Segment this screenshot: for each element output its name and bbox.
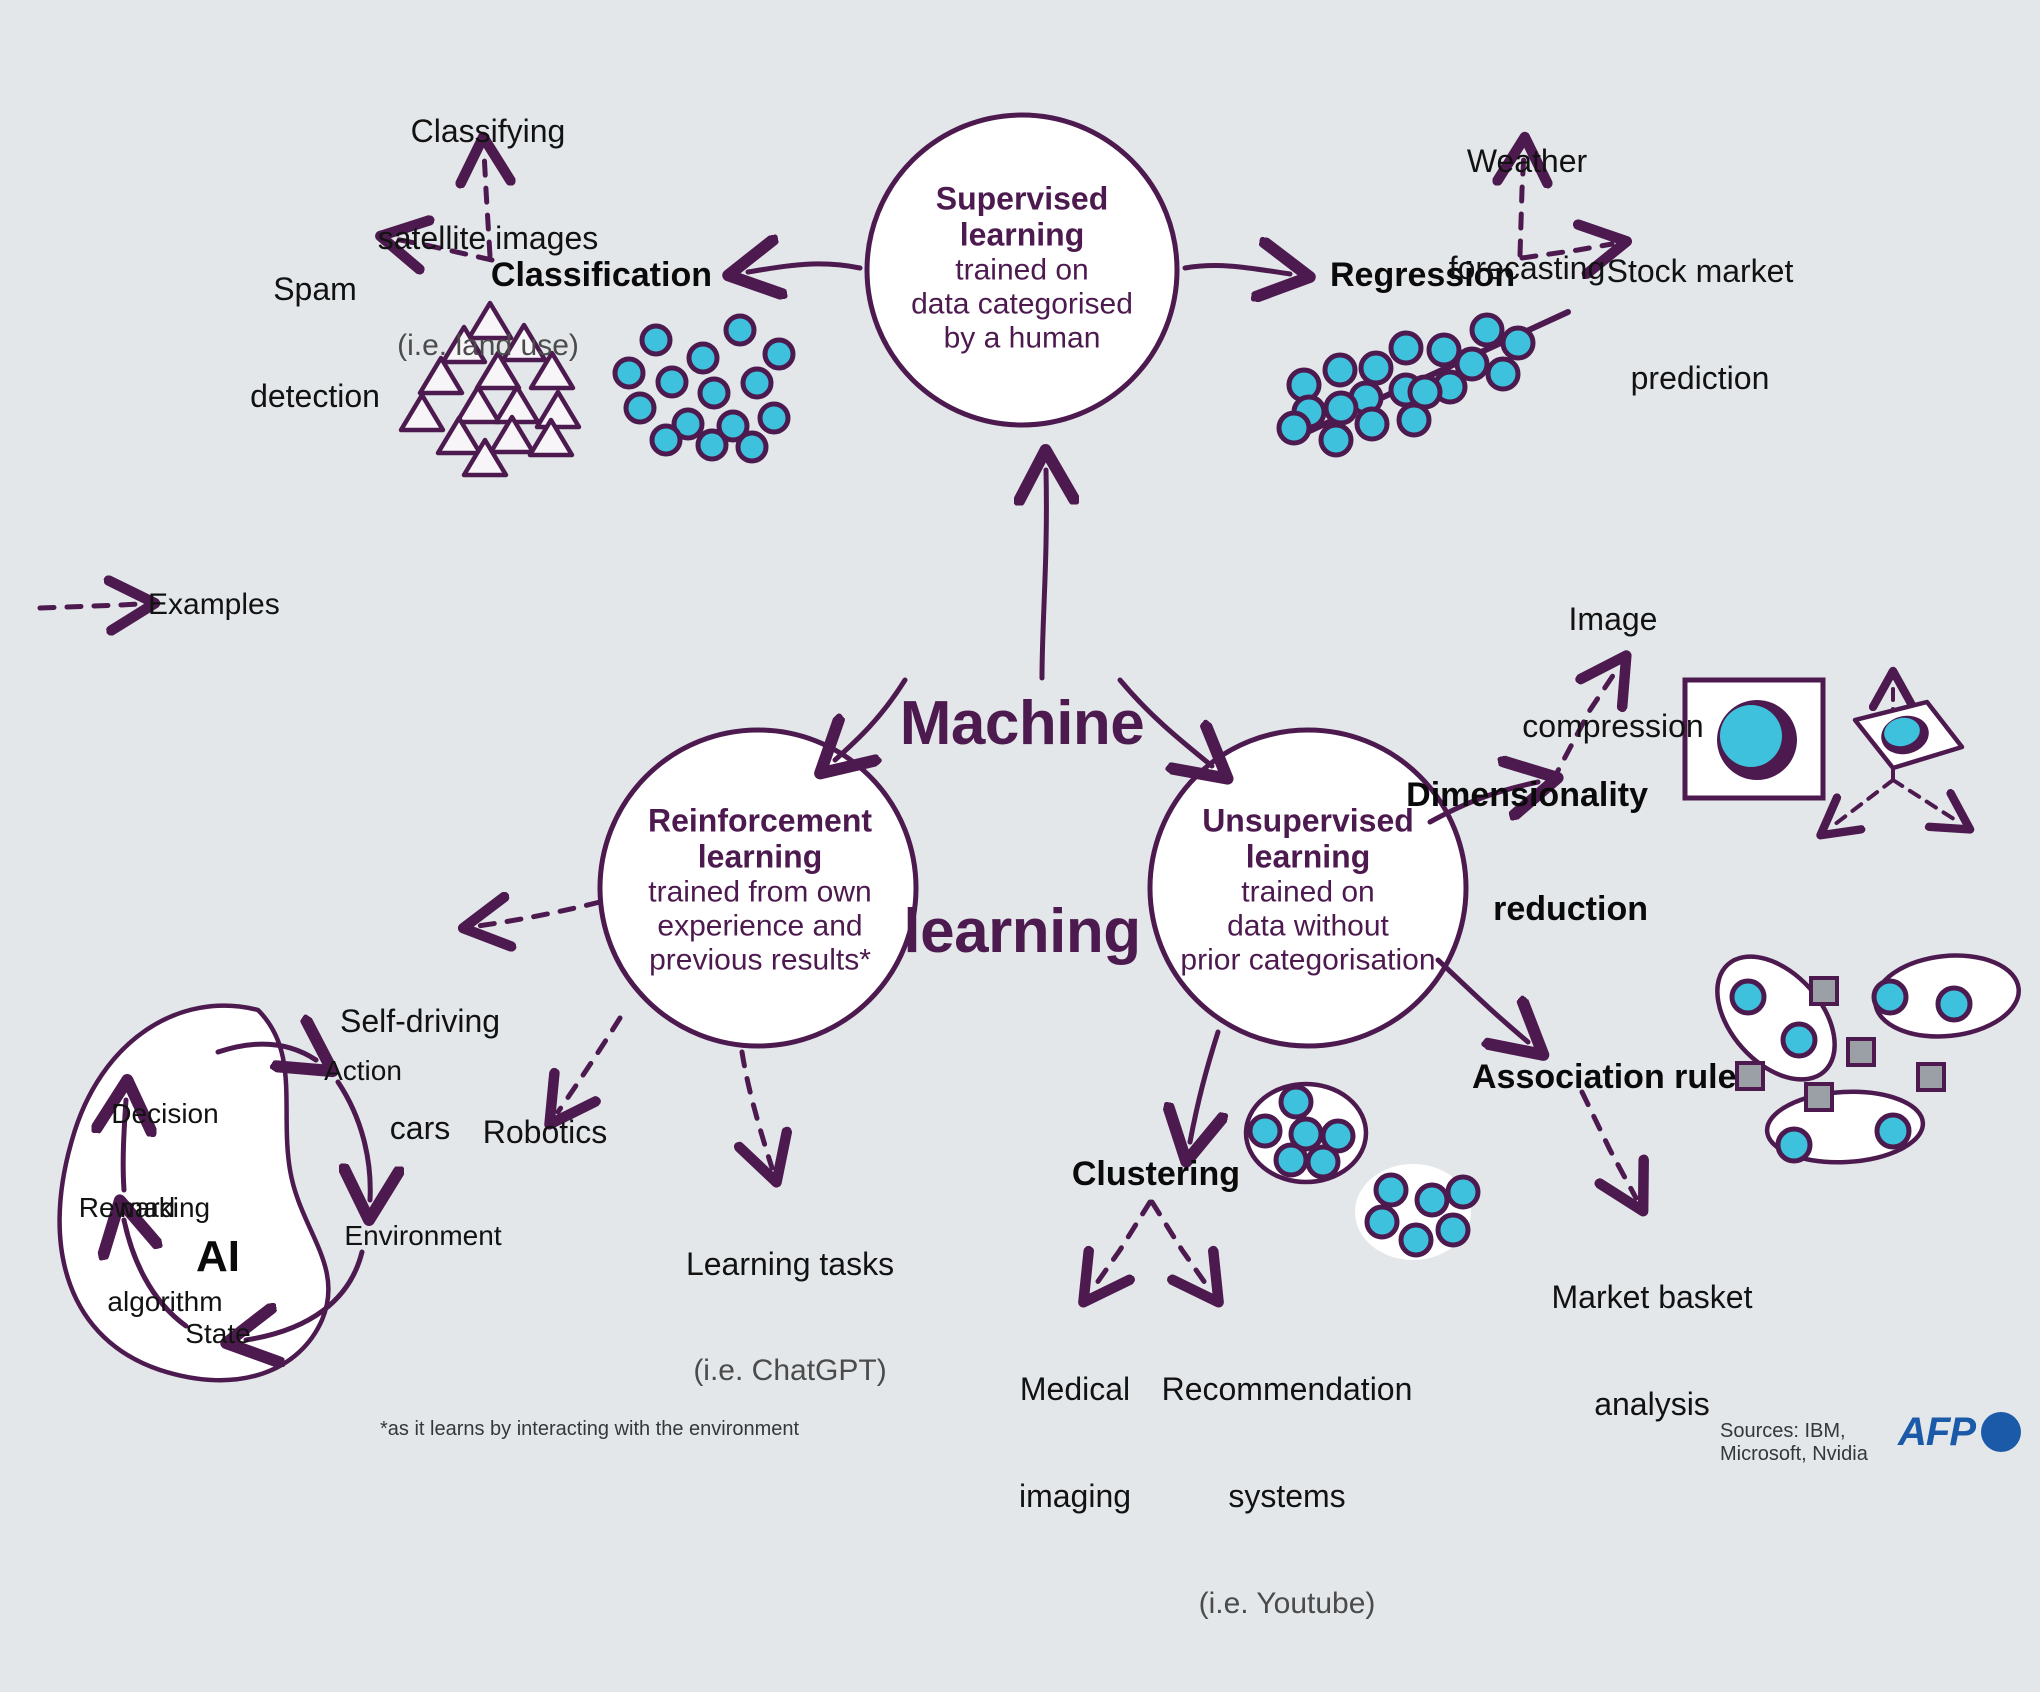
weather-line2: forecasting bbox=[1449, 251, 1606, 287]
supervised-learning-label: Supervised learning trained on data cate… bbox=[872, 180, 1172, 356]
self-driving-line1: Self-driving bbox=[340, 1004, 500, 1040]
example-medical-imaging: Medical imaging bbox=[1019, 1300, 1131, 1587]
afp-logo-dot-icon bbox=[1981, 1412, 2021, 1452]
image-compression-icon bbox=[1685, 680, 1823, 798]
reinforcement-body-line1: trained from own bbox=[605, 875, 915, 909]
ai-environment-label: Environment bbox=[344, 1220, 501, 1251]
market-basket-line2: analysis bbox=[1552, 1387, 1753, 1423]
afp-logo-wordmark: AFP bbox=[1898, 1412, 1975, 1452]
ai-reward-label: Reward bbox=[79, 1192, 175, 1223]
market-basket-line1: Market basket bbox=[1552, 1280, 1753, 1316]
ai-label: AI bbox=[196, 1232, 240, 1281]
supervised-heading-line1: Supervised bbox=[872, 180, 1172, 216]
dashed-arrow-robotics bbox=[558, 1018, 620, 1112]
arrow-hub-to-reinforcement bbox=[835, 680, 905, 760]
spam-line1: Spam bbox=[250, 272, 380, 308]
classifying-satellite-line3: (i.e. land use) bbox=[378, 329, 599, 363]
recommendation-line3: (i.e. Youtube) bbox=[1162, 1587, 1413, 1621]
dashed-arrow-legend bbox=[40, 604, 140, 608]
dashed-arrow-self-driving-cars bbox=[478, 902, 600, 926]
recommendation-line1: Recommendation bbox=[1162, 1372, 1413, 1408]
example-weather-forecasting: Weather forecasting bbox=[1449, 72, 1606, 359]
dashed-arrow-learning-tasks bbox=[742, 1052, 772, 1168]
weather-line1: Weather bbox=[1449, 144, 1606, 180]
reinforcement-body-line3: previous results* bbox=[605, 944, 915, 978]
clustering-icon-group bbox=[1246, 1084, 1478, 1260]
classification-dots-group bbox=[615, 316, 793, 461]
dimensionality-label-line2: reduction bbox=[1406, 890, 1648, 928]
arrow-supervised-to-classification bbox=[748, 264, 860, 272]
reinforcement-heading-line1: Reinforcement bbox=[605, 802, 915, 838]
association-rule-icon-group bbox=[1694, 934, 2022, 1166]
branch-label-clustering: Clustering bbox=[1072, 1155, 1240, 1193]
image-compression-line2: compression bbox=[1522, 709, 1703, 745]
recommendation-line2: systems bbox=[1162, 1479, 1413, 1515]
self-driving-line2: cars bbox=[340, 1111, 500, 1147]
dashed-arrow-recommendation-systems bbox=[1152, 1202, 1210, 1290]
ai-state-label: State bbox=[185, 1318, 250, 1349]
stock-line1: Stock market bbox=[1607, 254, 1794, 290]
classifying-satellite-line1: Classifying bbox=[378, 114, 599, 150]
example-robotics: Robotics bbox=[483, 1115, 608, 1151]
example-classifying-satellite-images: Classifying satellite images (i.e. land … bbox=[378, 42, 599, 434]
decision-line1: Decision bbox=[107, 1098, 222, 1129]
supervised-body-line3: by a human bbox=[872, 322, 1172, 356]
dashed-arrow-medical-imaging bbox=[1092, 1202, 1150, 1290]
supervised-body-line1: trained on bbox=[872, 253, 1172, 287]
decision-line3: algorithm bbox=[107, 1286, 222, 1317]
reinforcement-body-line2: experience and bbox=[605, 909, 915, 943]
learning-tasks-line2: (i.e. ChatGPT) bbox=[686, 1354, 894, 1388]
stock-line2: prediction bbox=[1607, 361, 1794, 397]
page-title-line1: Machine bbox=[900, 689, 1145, 758]
sources-credit: Sources: IBM, Microsoft, Nvidia bbox=[1720, 1420, 1880, 1466]
footnote: *as it learns by interacting with the en… bbox=[380, 1418, 799, 1441]
learning-tasks-line1: Learning tasks bbox=[686, 1247, 894, 1283]
arrow-supervised-to-regression bbox=[1185, 266, 1290, 274]
example-spam-detection: Spam detection bbox=[250, 200, 380, 487]
image-compression-line1: Image bbox=[1522, 602, 1703, 638]
example-image-compression: Image compression bbox=[1522, 530, 1703, 817]
example-learning-tasks: Learning tasks (i.e. ChatGPT) bbox=[686, 1175, 894, 1459]
supervised-body-line2: data categorised bbox=[872, 287, 1172, 321]
afp-logo: AFP bbox=[1898, 1412, 2021, 1452]
projection-plane-icon bbox=[1830, 683, 1962, 828]
example-recommendation-systems: Recommendation systems (i.e. Youtube) bbox=[1162, 1300, 1413, 1692]
reinforcement-heading-line2: learning bbox=[605, 839, 915, 875]
example-stock-market-prediction: Stock market prediction bbox=[1607, 182, 1794, 469]
medical-imaging-line2: imaging bbox=[1019, 1479, 1131, 1515]
reinforcement-learning-label: Reinforcement learning trained from own … bbox=[605, 802, 915, 978]
classifying-satellite-line2: satellite images bbox=[378, 221, 599, 257]
branch-label-association-rule: Association rule bbox=[1472, 1058, 1737, 1096]
infographic-canvas: Machine learning Examples Supervised lea… bbox=[0, 0, 2040, 1464]
supervised-heading-line2: learning bbox=[872, 217, 1172, 253]
arrow-unsupervised-to-clustering bbox=[1190, 1032, 1218, 1142]
medical-imaging-line1: Medical bbox=[1019, 1372, 1131, 1408]
page-title-line2: learning bbox=[900, 897, 1145, 966]
dashed-arrow-market-basket bbox=[1582, 1092, 1636, 1198]
spam-line2: detection bbox=[250, 379, 380, 415]
page-title: Machine learning bbox=[900, 550, 1145, 1106]
legend-label: Examples bbox=[148, 588, 280, 622]
ai-action-label: Action bbox=[324, 1055, 402, 1086]
